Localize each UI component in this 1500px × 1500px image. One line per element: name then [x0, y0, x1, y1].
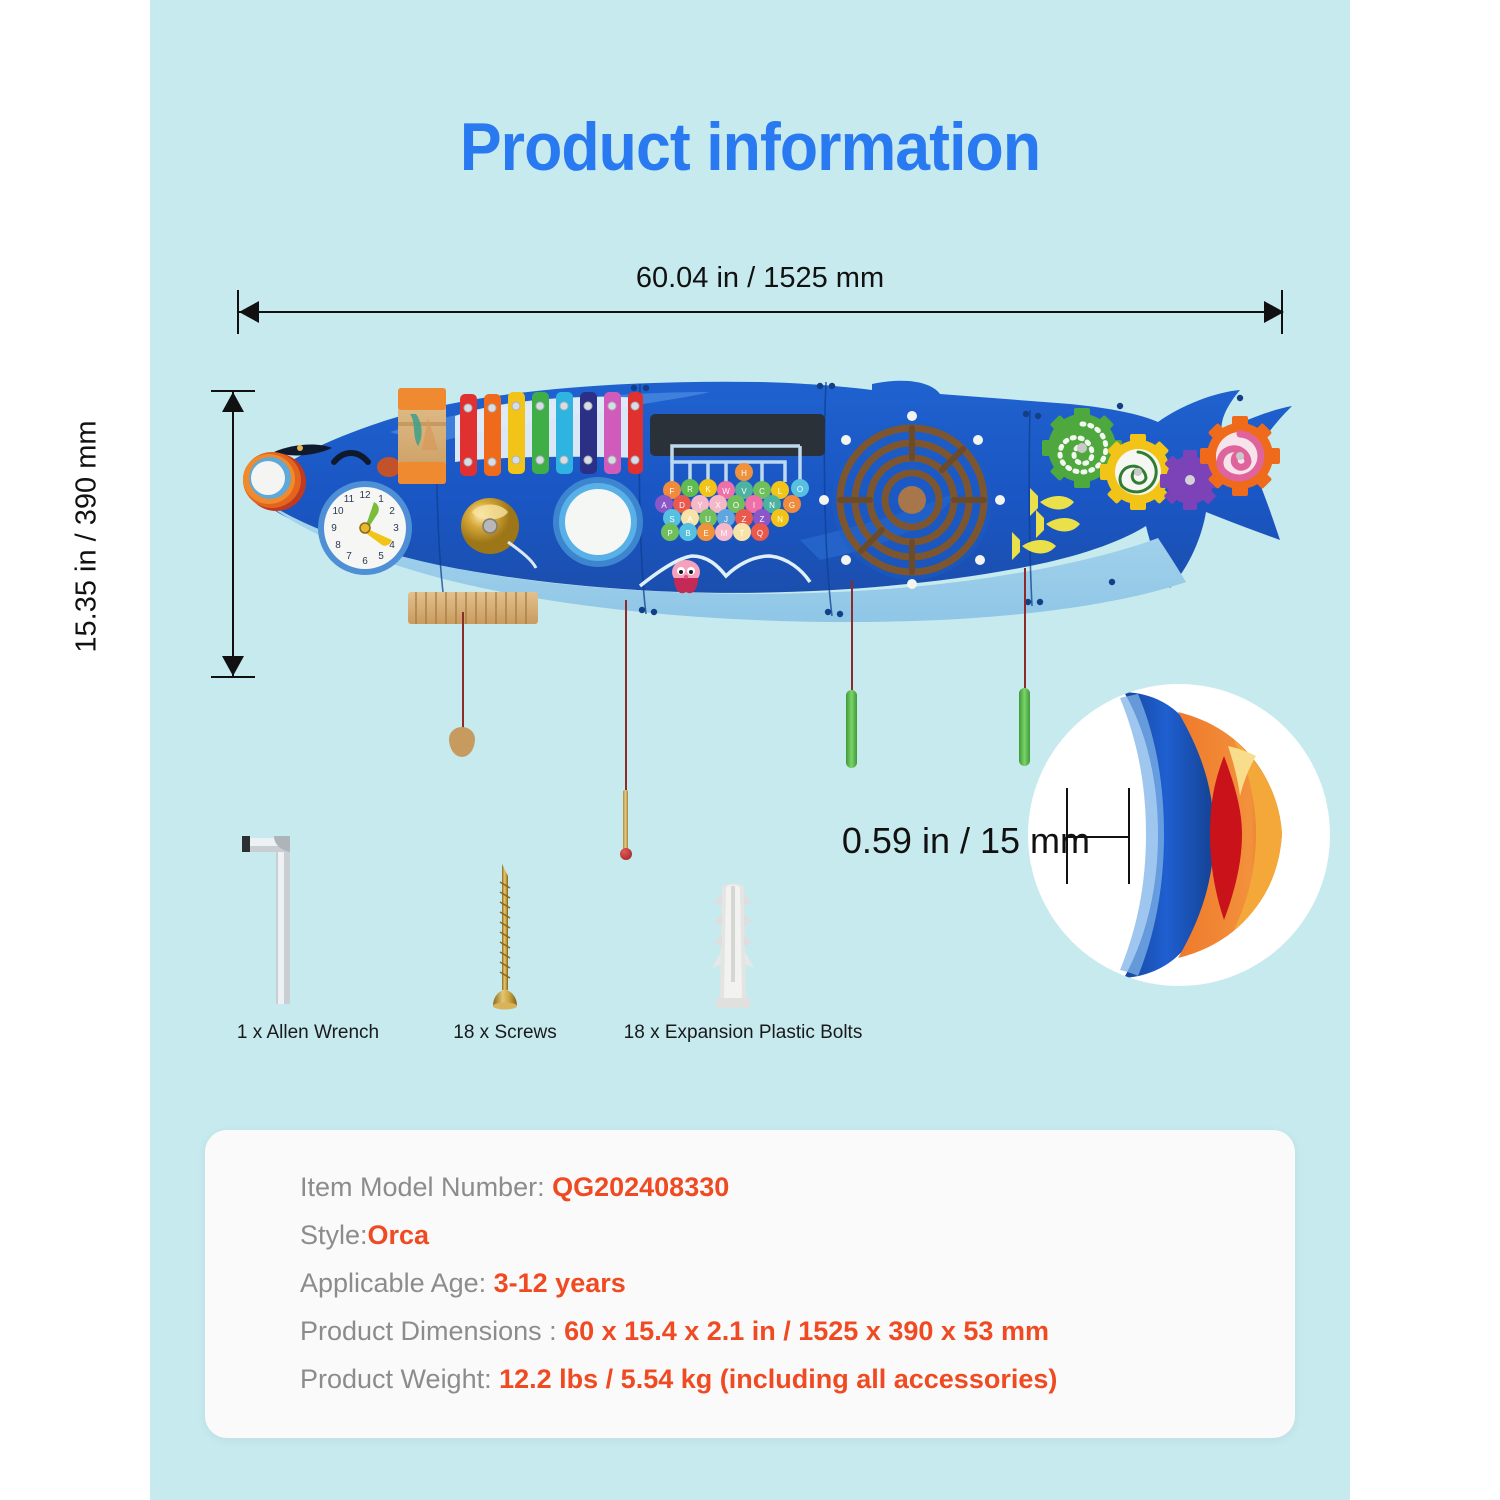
expansion-bolt-icon [712, 872, 754, 1017]
svg-text:Z: Z [760, 515, 765, 524]
svg-text:P: P [667, 529, 672, 538]
svg-text:F: F [670, 487, 675, 496]
svg-text:O: O [733, 501, 739, 510]
svg-text:Y: Y [697, 501, 703, 510]
cord-stick-right-line [1024, 568, 1026, 693]
svg-text:L: L [778, 487, 783, 496]
svg-text:A: A [661, 501, 667, 510]
svg-text:E: E [703, 529, 708, 538]
svg-text:T: T [740, 529, 745, 538]
spec-label-weight: Product Weight: [300, 1364, 499, 1394]
svg-text:C: C [759, 487, 765, 496]
svg-text:W: W [722, 487, 730, 496]
mallet-ball-icon [620, 848, 632, 860]
arrow-right-icon [1264, 301, 1284, 323]
arrow-left-icon [239, 301, 259, 323]
svg-text:G: G [789, 501, 795, 510]
product-information-page: Product information 60.04 in / 1525 mm 1… [0, 0, 1500, 1500]
svg-text:A: A [687, 515, 693, 524]
svg-text:K: K [705, 485, 711, 494]
svg-text:7: 7 [346, 551, 352, 562]
svg-text:5: 5 [378, 551, 384, 562]
spec-row-model: Item Model Number: QG202408330 [300, 1172, 1057, 1203]
svg-text:V: V [741, 487, 747, 496]
spec-row-weight: Product Weight: 12.2 lbs / 5.54 kg (incl… [300, 1364, 1057, 1395]
svg-text:O: O [797, 485, 803, 494]
svg-text:6: 6 [362, 556, 368, 567]
svg-text:D: D [679, 501, 685, 510]
svg-text:B: B [685, 529, 690, 538]
spec-value-model: QG202408330 [552, 1172, 729, 1202]
spec-value-dimensions: 60 x 15.4 x 2.1 in / 1525 x 390 x 53 mm [564, 1316, 1049, 1346]
spec-row-style: Style:Orca [300, 1220, 1057, 1251]
spec-label-model: Item Model Number: [300, 1172, 552, 1202]
spec-label-style: Style: [300, 1220, 368, 1250]
svg-text:8: 8 [335, 540, 341, 551]
accessory-label-expansion-bolts: 18 x Expansion Plastic Bolts [613, 1022, 873, 1044]
svg-text:I: I [753, 501, 755, 510]
width-dimension-label: 60.04 in / 1525 mm [530, 262, 990, 295]
svg-text:X: X [715, 501, 721, 510]
width-dimension-line [237, 311, 1283, 313]
round-mirror [553, 477, 643, 567]
svg-text:3: 3 [393, 523, 399, 534]
height-dimension-label: 15.35 in / 390 mm [71, 377, 104, 697]
svg-text:J: J [724, 515, 728, 524]
svg-text:11: 11 [344, 494, 355, 505]
cord-mallet-line [625, 600, 627, 798]
allen-wrench-icon [228, 812, 338, 1017]
spec-value-weight: 12.2 lbs / 5.54 kg (including all access… [499, 1364, 1057, 1394]
circular-wooden-maze [819, 411, 1005, 589]
svg-text:U: U [705, 515, 711, 524]
svg-text:S: S [669, 515, 674, 524]
spec-value-age: 3-12 years [494, 1268, 626, 1298]
spec-row-dimensions: Product Dimensions : 60 x 15.4 x 2.1 in … [300, 1316, 1057, 1347]
wooden-sliding-blocks [398, 388, 446, 484]
product-specs-card: Item Model Number: QG202408330 Style:Orc… [205, 1130, 1295, 1438]
accessory-label-allen-wrench: 1 x Allen Wrench [198, 1022, 418, 1044]
thickness-dimension-label: 0.59 in / 15 mm [770, 820, 1090, 862]
spec-value-style: Orca [368, 1220, 430, 1250]
orca-activity-board-image: 1212 345 678 91011 [240, 370, 1300, 660]
green-stick-left-icon [846, 690, 857, 768]
svg-text:R: R [687, 485, 693, 494]
spec-label-age: Applicable Age: [300, 1268, 494, 1298]
svg-text:N: N [777, 515, 783, 524]
wooden-washboard [408, 592, 538, 624]
learning-clock: 1212 345 678 91011 [318, 481, 412, 575]
svg-text:12: 12 [359, 490, 371, 501]
svg-text:H: H [741, 469, 747, 478]
svg-text:Z: Z [742, 515, 747, 524]
accessory-label-screws: 18 x Screws [405, 1022, 605, 1044]
svg-text:1: 1 [378, 494, 384, 505]
svg-text:9: 9 [331, 523, 337, 534]
spec-list: Item Model Number: QG202408330 Style:Orc… [300, 1172, 1057, 1412]
svg-text:10: 10 [332, 506, 344, 517]
spec-label-dimensions: Product Dimensions : [300, 1316, 564, 1346]
spec-row-age: Applicable Age: 3-12 years [300, 1268, 1057, 1299]
svg-text:Q: Q [757, 529, 763, 538]
green-stick-right-icon [1019, 688, 1030, 766]
svg-text:2: 2 [389, 506, 395, 517]
cord-heart-line [462, 612, 464, 734]
brass-mallet-icon [623, 790, 628, 852]
cord-stick-left-line [851, 580, 853, 695]
height-dimension-line [232, 390, 234, 678]
svg-text:M: M [721, 529, 728, 538]
screw-icon [487, 858, 523, 1017]
svg-text:N: N [769, 501, 775, 510]
octopus-bead [672, 560, 700, 593]
page-title: Product information [60, 108, 1440, 186]
